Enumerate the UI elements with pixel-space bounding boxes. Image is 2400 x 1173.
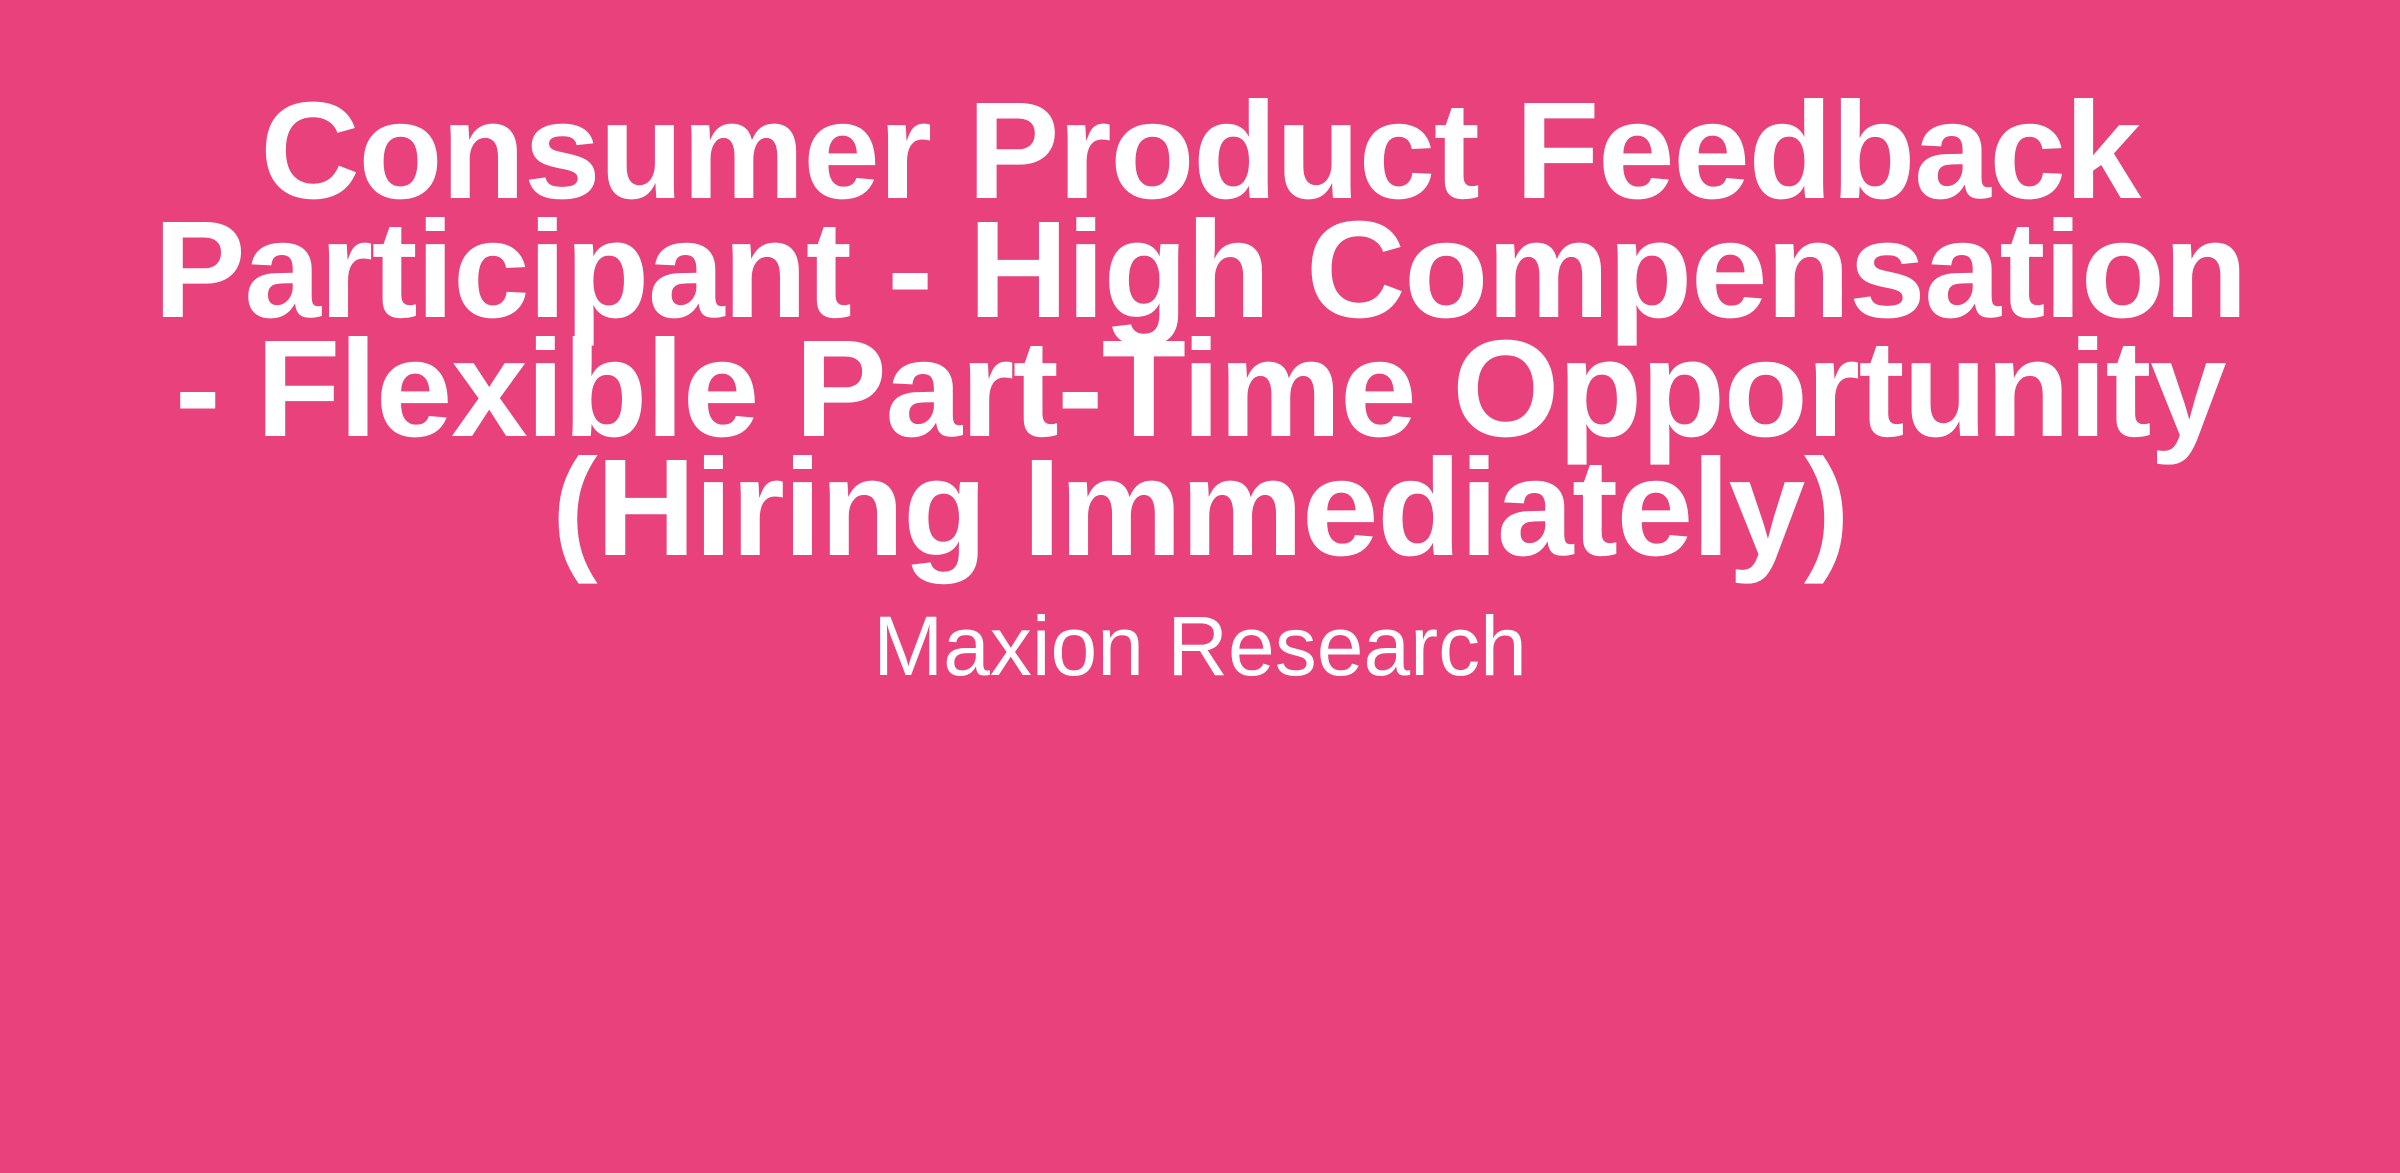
page-title: Consumer Product Feedback Participant - … [140, 92, 2260, 568]
company-name: Maxion Research [140, 568, 2260, 694]
job-posting-banner: Consumer Product Feedback Participant - … [0, 0, 2400, 1173]
